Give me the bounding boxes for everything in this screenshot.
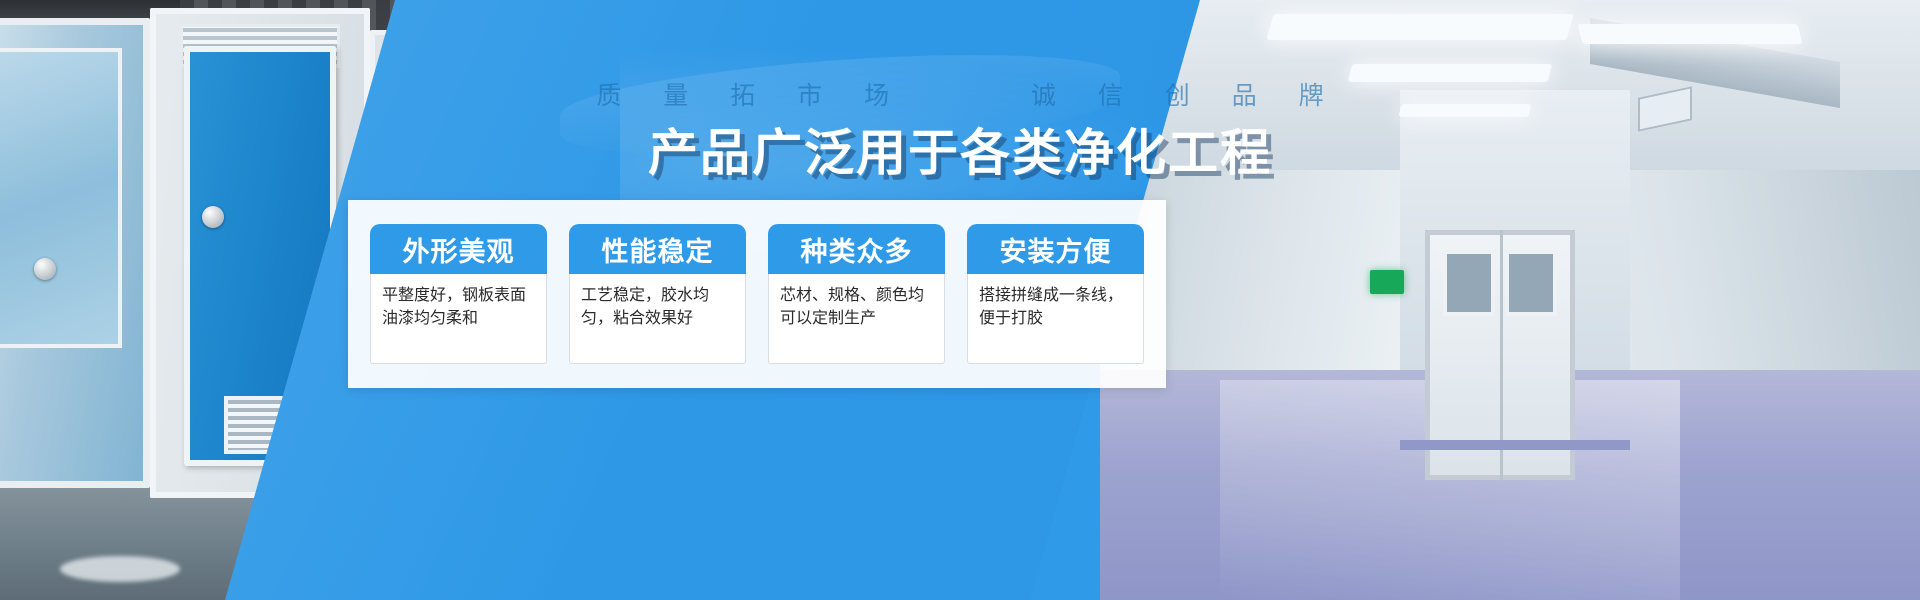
cabin-lock-icon bbox=[34, 258, 56, 280]
feature-card-text: 搭接拼缝成一条线，便于打胶 bbox=[967, 274, 1144, 364]
feature-card-title: 种类众多 bbox=[768, 224, 945, 274]
feature-card-text: 芯材、规格、颜色均可以定制生产 bbox=[768, 274, 945, 364]
feature-card-title: 外形美观 bbox=[370, 224, 547, 274]
door-window-right bbox=[1505, 250, 1557, 316]
feature-card-list: 外形美观 平整度好，钢板表面油漆均匀柔和 性能稳定 工艺稳定，胶水均匀，粘合效果… bbox=[348, 200, 1166, 388]
door-handle-icon bbox=[202, 206, 224, 228]
feature-card-title: 性能稳定 bbox=[569, 224, 746, 274]
banner-headline: 产品广泛用于各类净化工程 bbox=[0, 113, 1920, 185]
promo-banner: 质 量 拓 市 场 诚 信 创 品 牌 产品广泛用于各类净化工程 外形美观 平整… bbox=[0, 0, 1920, 600]
wall-base-strip bbox=[1400, 440, 1630, 450]
feature-card-panel: 外形美观 平整度好，钢板表面油漆均匀柔和 性能稳定 工艺稳定，胶水均匀，粘合效果… bbox=[348, 200, 1166, 388]
feature-card[interactable]: 种类众多 芯材、规格、颜色均可以定制生产 bbox=[768, 224, 945, 364]
ground-puddle bbox=[60, 556, 180, 582]
feature-card[interactable]: 性能稳定 工艺稳定，胶水均匀，粘合效果好 bbox=[569, 224, 746, 364]
ceiling-light-icon bbox=[1578, 24, 1803, 44]
feature-card[interactable]: 外形美观 平整度好，钢板表面油漆均匀柔和 bbox=[370, 224, 547, 364]
door-window-left bbox=[1443, 250, 1495, 316]
feature-card-text: 工艺稳定，胶水均匀，粘合效果好 bbox=[569, 274, 746, 364]
feature-card-title: 安装方便 bbox=[967, 224, 1144, 274]
banner-tagline: 质 量 拓 市 场 诚 信 创 品 牌 bbox=[0, 76, 1920, 112]
exit-sign-icon bbox=[1370, 270, 1404, 294]
feature-card[interactable]: 安装方便 搭接拼缝成一条线，便于打胶 bbox=[967, 224, 1144, 364]
feature-card-text: 平整度好，钢板表面油漆均匀柔和 bbox=[370, 274, 547, 364]
ceiling-light-icon bbox=[1266, 14, 1573, 40]
